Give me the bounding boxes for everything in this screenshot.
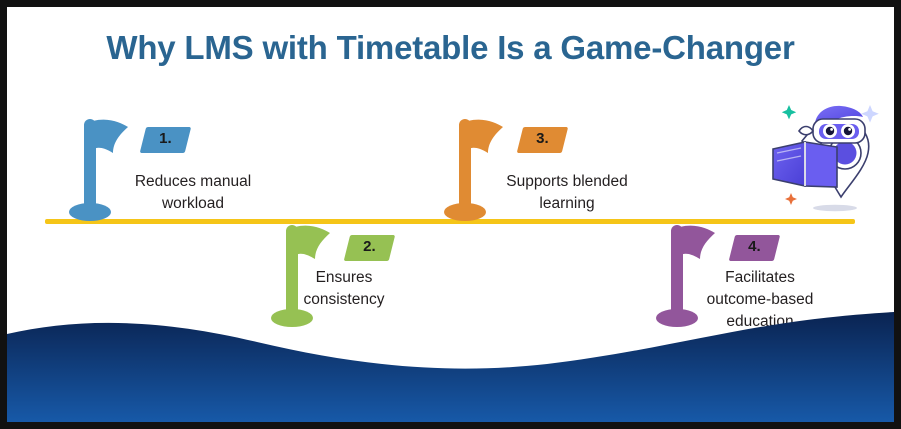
milestone-number-3: 3.: [536, 131, 549, 148]
milestone-number-1: 1.: [159, 131, 172, 148]
milestone-badge-4: 4.: [729, 235, 780, 261]
milestone-text-2: Ensures consistency: [254, 267, 434, 311]
milestone-number-2: 2.: [363, 239, 376, 256]
robot-reading-book-icon: [769, 89, 887, 214]
milestone-number-4: 4.: [748, 239, 761, 256]
slide-frame: Why LMS with Timetable Is a Game-Changer…: [0, 0, 901, 429]
milestone-badge-3: 3.: [517, 127, 568, 153]
milestone-text-1: Reduces manual workload: [103, 171, 283, 215]
bottom-wave-decoration: [7, 312, 894, 422]
page-title: Why LMS with Timetable Is a Game-Changer: [7, 29, 894, 67]
milestone-text-3: Supports blended learning: [477, 171, 657, 215]
milestone-badge-2: 2.: [344, 235, 395, 261]
slide-canvas: Why LMS with Timetable Is a Game-Changer…: [7, 7, 894, 422]
milestone-badge-1: 1.: [140, 127, 191, 153]
